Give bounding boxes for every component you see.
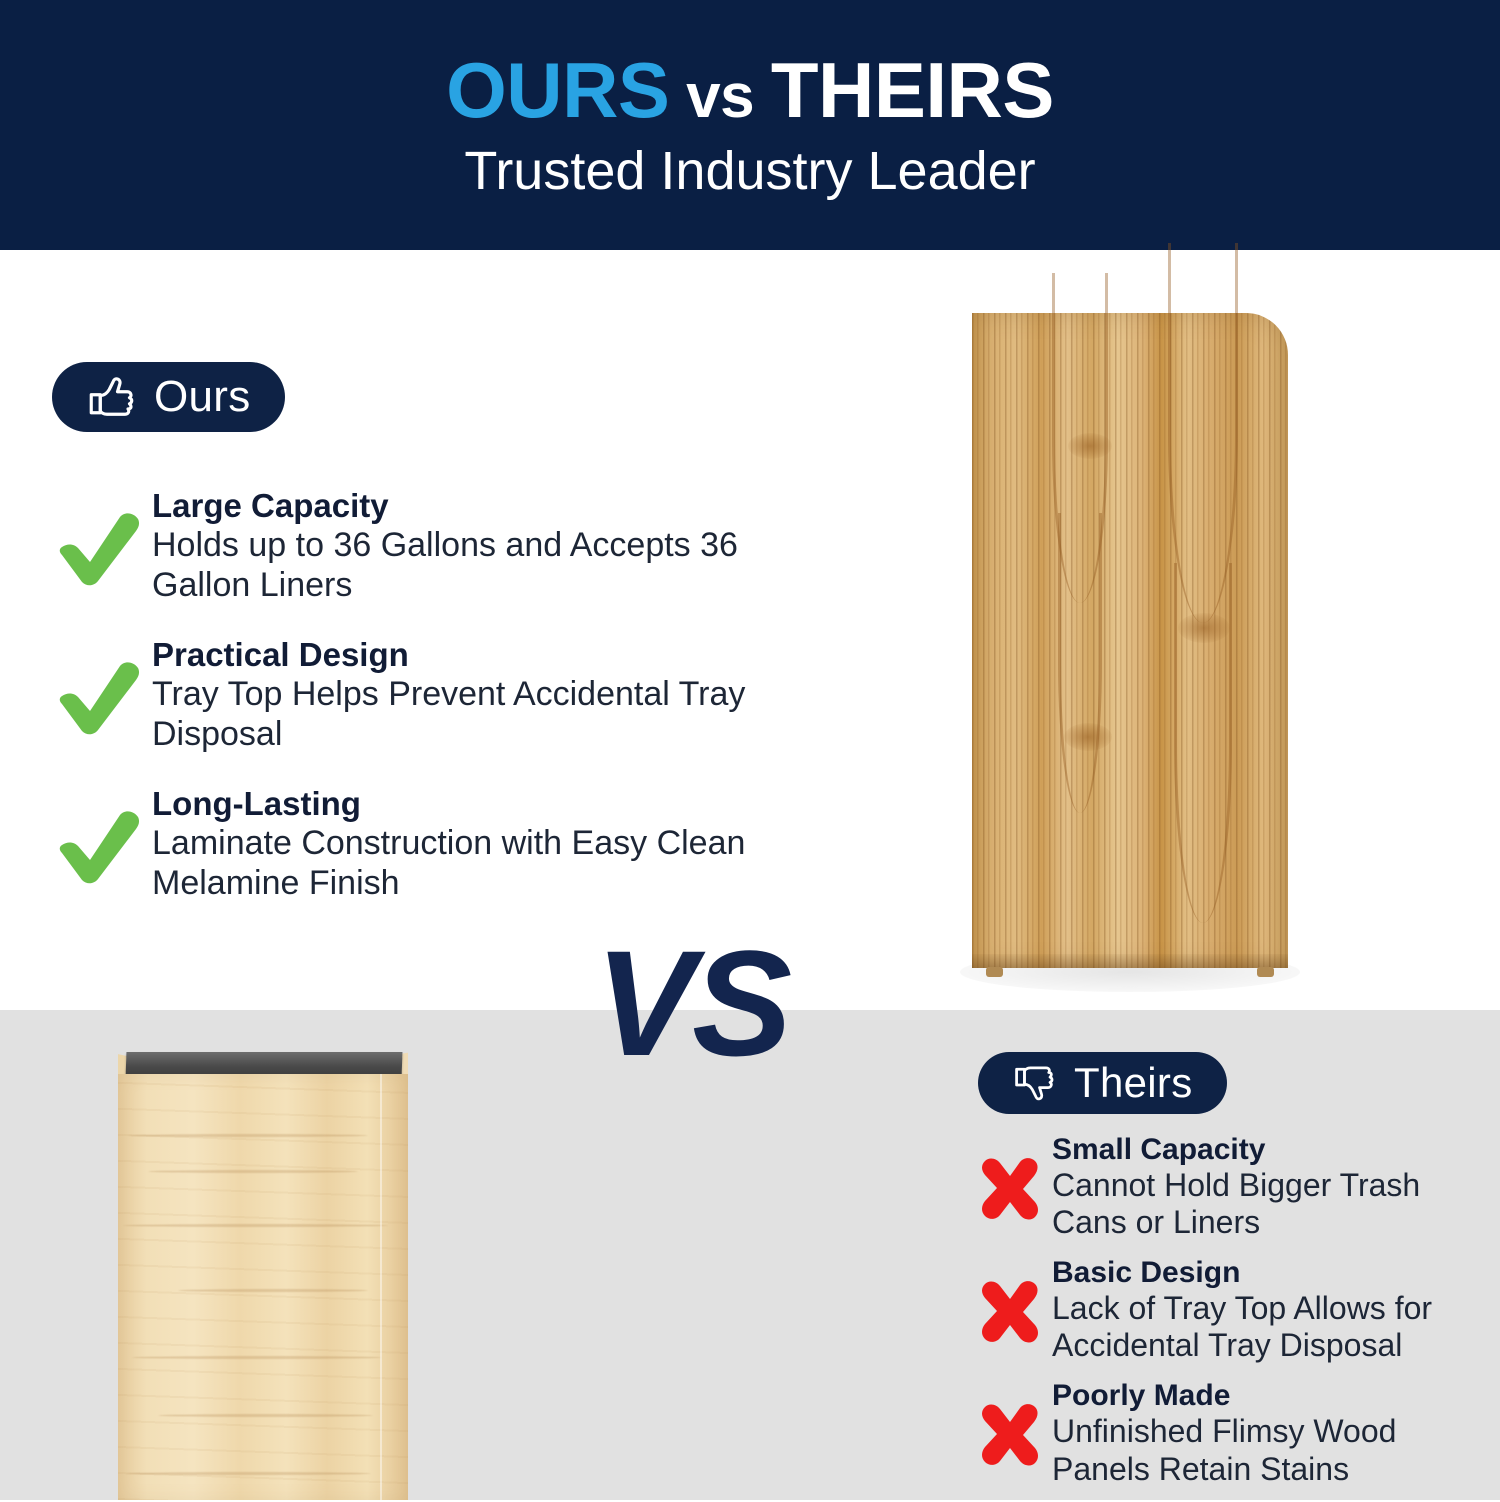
- theirs-feature-list: Small Capacity Cannot Hold Bigger Trash …: [968, 1133, 1488, 1502]
- pine-panel-seam: [380, 1074, 382, 1500]
- cabinet-foot: [1257, 967, 1274, 977]
- title-vs: vs: [669, 62, 770, 131]
- feature-title: Small Capacity: [1052, 1133, 1488, 1167]
- title-ours: OURS: [446, 46, 669, 134]
- red-x-icon: [968, 1394, 1052, 1474]
- title-theirs: THEIRS: [771, 46, 1054, 134]
- header-banner: OURS vs THEIRS Trusted Industry Leader: [0, 0, 1500, 250]
- list-item: Long-Lasting Laminate Construction with …: [48, 786, 748, 903]
- list-item: Poorly Made Unfinished Flimsy Wood Panel…: [968, 1379, 1488, 1488]
- vs-label: VS: [595, 928, 789, 1078]
- green-check-icon: [48, 797, 152, 893]
- green-check-icon: [48, 499, 152, 595]
- theirs-badge-label: Theirs: [1074, 1062, 1193, 1104]
- feature-desc: Cannot Hold Bigger Trash Cans or Liners: [1052, 1167, 1488, 1243]
- red-x-icon: [968, 1271, 1052, 1351]
- ours-feature-list: Large Capacity Holds up to 36 Gallons an…: [48, 488, 748, 936]
- thumbs-up-icon: [86, 373, 134, 421]
- feature-desc: Laminate Construction with Easy Clean Me…: [152, 823, 748, 903]
- page-subtitle: Trusted Industry Leader: [464, 143, 1035, 200]
- theirs-badge: Theirs: [978, 1052, 1227, 1114]
- feature-title: Large Capacity: [152, 488, 748, 525]
- cabinet-foot: [986, 967, 1003, 977]
- ours-badge-label: Ours: [154, 375, 251, 419]
- red-x-icon: [968, 1148, 1052, 1228]
- feature-title: Long-Lasting: [152, 786, 748, 823]
- thumbs-down-icon: [1012, 1062, 1054, 1104]
- green-check-icon: [48, 648, 152, 744]
- list-item: Large Capacity Holds up to 36 Gallons an…: [48, 488, 748, 605]
- ours-badge: Ours: [52, 362, 285, 432]
- list-item: Basic Design Lack of Tray Top Allows for…: [968, 1256, 1488, 1365]
- feature-desc: Holds up to 36 Gallons and Accepts 36 Ga…: [152, 525, 748, 605]
- feature-title: Practical Design: [152, 637, 748, 674]
- feature-desc: Tray Top Helps Prevent Accidental Tray D…: [152, 674, 748, 754]
- list-item: Small Capacity Cannot Hold Bigger Trash …: [968, 1133, 1488, 1242]
- list-item: Practical Design Tray Top Helps Prevent …: [48, 637, 748, 754]
- pine-cabinet-body: [118, 1074, 408, 1500]
- page-title: OURS vs THEIRS: [446, 51, 1054, 129]
- ours-product-image: [972, 313, 1288, 968]
- feature-desc: Unfinished Flimsy Wood Panels Retain Sta…: [1052, 1413, 1488, 1489]
- feature-desc: Lack of Tray Top Allows for Accidental T…: [1052, 1290, 1488, 1366]
- theirs-product-image: [118, 1052, 408, 1500]
- feature-title: Poorly Made: [1052, 1379, 1488, 1413]
- oak-cabinet-body: [972, 313, 1288, 968]
- feature-title: Basic Design: [1052, 1256, 1488, 1290]
